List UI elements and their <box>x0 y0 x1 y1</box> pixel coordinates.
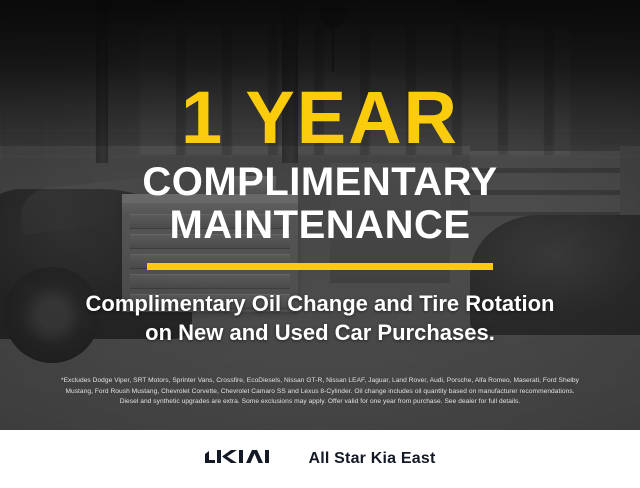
banner-copy: 1 YEAR COMPLIMENTARY MAINTENANCE Complim… <box>0 0 640 430</box>
yellow-divider-bar <box>147 263 493 270</box>
tagline: Complimentary Oil Change and Tire Rotati… <box>86 290 555 347</box>
promotional-banner: 1 YEAR COMPLIMENTARY MAINTENANCE Complim… <box>0 0 640 488</box>
kia-logo-icon <box>204 445 288 474</box>
dealer-name: All Star Kia East <box>308 450 435 468</box>
tagline-line-1: Complimentary Oil Change and Tire Rotati… <box>86 290 555 319</box>
footer-brand-bar: All Star Kia East <box>0 430 640 488</box>
subhead-complimentary: COMPLIMENTARY <box>142 162 497 202</box>
subhead-maintenance: MAINTENANCE <box>169 205 470 245</box>
tagline-line-2: on New and Used Car Purchases. <box>86 319 555 348</box>
headline-1-year: 1 YEAR <box>181 84 459 152</box>
